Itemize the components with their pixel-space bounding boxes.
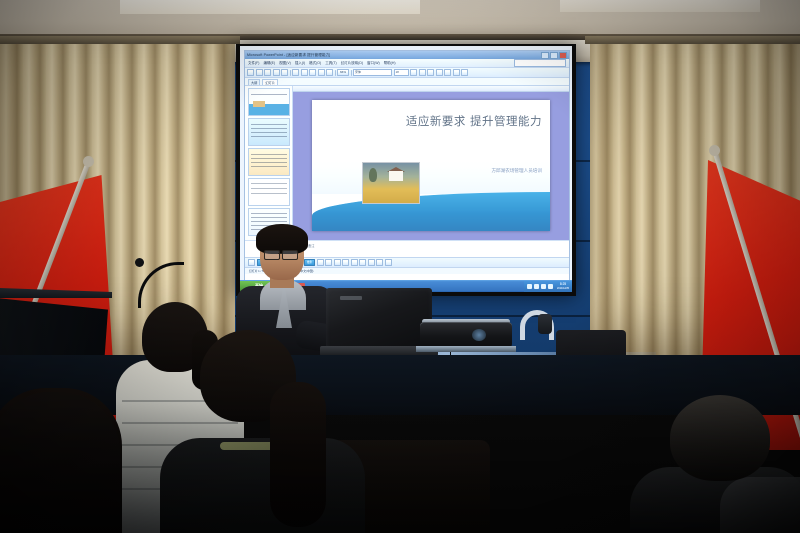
bold-icon[interactable] xyxy=(410,69,417,76)
ceiling-light-panel xyxy=(120,0,420,14)
presentation-room-photo: Microsoft PowerPoint - [适应新要求 提升管理能力] 文件… xyxy=(0,0,800,533)
tab-slides[interactable]: 幻灯片 xyxy=(262,79,278,85)
fill-color-icon[interactable] xyxy=(359,259,366,266)
menu-format[interactable]: 格式(O) xyxy=(309,61,321,66)
ime-icon[interactable] xyxy=(548,284,553,289)
flag-pole-knob-right xyxy=(709,145,720,156)
clock-time: 8:25 xyxy=(560,282,566,286)
slide-thumbnail[interactable] xyxy=(248,118,290,146)
window-title: Microsoft PowerPoint - [适应新要求 提升管理能力] xyxy=(247,53,330,58)
menu-bar-right xyxy=(514,59,566,67)
toolbar-separator xyxy=(290,70,291,76)
menu-edit[interactable]: 编辑(E) xyxy=(263,61,275,66)
shield-icon[interactable] xyxy=(541,284,546,289)
toolbar-separator xyxy=(335,70,336,76)
projector-body xyxy=(420,322,512,348)
volume-icon[interactable] xyxy=(534,284,539,289)
line-color-icon[interactable] xyxy=(368,259,375,266)
editor-body: 适应新要求 提升管理能力 方邱湖农场管理人员培训 xyxy=(245,86,569,240)
tree-shape xyxy=(369,168,377,182)
slide-subtitle-text[interactable]: 方邱湖农场管理人员培训 xyxy=(491,168,542,174)
curtain-rod-right xyxy=(585,36,800,44)
headphones-earcup xyxy=(538,314,552,334)
microphone-capsule xyxy=(135,258,144,267)
3d-icon[interactable] xyxy=(385,259,392,266)
menu-insert[interactable]: 插入(I) xyxy=(295,61,305,66)
audience-long-hair xyxy=(270,382,326,527)
font-color-icon[interactable] xyxy=(461,69,468,76)
open-icon[interactable] xyxy=(256,69,263,76)
toolbar-separator xyxy=(351,70,352,76)
undo-icon[interactable] xyxy=(318,69,325,76)
underline-icon[interactable] xyxy=(427,69,434,76)
window-controls[interactable] xyxy=(541,52,567,59)
font-size-select[interactable]: 18 xyxy=(394,69,409,77)
menu-tools[interactable]: 工具(T) xyxy=(325,61,336,66)
eyeglasses-right-lens xyxy=(282,250,298,260)
curtain-rod-left xyxy=(0,36,240,44)
standard-toolbar[interactable]: 66% 宋体 18 xyxy=(245,68,569,78)
flag-pole-knob-left xyxy=(83,156,94,167)
paste-icon[interactable] xyxy=(309,69,316,76)
align-left-icon[interactable] xyxy=(436,69,443,76)
menu-view[interactable]: 视图(V) xyxy=(279,61,291,66)
bullets-icon[interactable] xyxy=(453,69,460,76)
system-tray[interactable]: 8:25 2014/12/25 xyxy=(524,281,572,292)
zoom-value[interactable]: 66% xyxy=(337,69,349,76)
save-icon[interactable] xyxy=(264,69,271,76)
taskbar-clock[interactable]: 8:25 2014/12/25 xyxy=(555,282,569,291)
print-preview-icon[interactable] xyxy=(281,69,288,76)
menu-window[interactable]: 窗口(W) xyxy=(367,61,380,66)
slide-editing-area[interactable]: 适应新要求 提升管理能力 方邱湖农场管理人员培训 xyxy=(293,86,569,240)
slide-thumbnail-panel[interactable] xyxy=(245,86,293,240)
list-item xyxy=(630,395,800,533)
projector xyxy=(420,322,512,356)
maximize-icon[interactable] xyxy=(550,52,558,59)
eyeglasses-left-lens xyxy=(264,250,280,260)
audience-body xyxy=(160,438,365,533)
headphones xyxy=(520,310,554,358)
clock-date: 2014/12/25 xyxy=(557,287,569,290)
textbox-icon[interactable] xyxy=(342,259,349,266)
slide-photo[interactable] xyxy=(362,162,420,204)
laptop-logo xyxy=(340,296,362,300)
audience-shoulder xyxy=(720,477,800,533)
menu-help[interactable]: 帮助(H) xyxy=(384,61,396,66)
cut-icon[interactable] xyxy=(292,69,299,76)
tab-outline[interactable]: 大纲 xyxy=(248,79,260,85)
title-bar: Microsoft PowerPoint - [适应新要求 提升管理能力] xyxy=(245,51,569,59)
projector-lens xyxy=(472,329,486,341)
ask-a-question-input[interactable] xyxy=(514,59,566,67)
slide-title-text[interactable]: 适应新要求 提升管理能力 xyxy=(322,114,542,129)
redo-icon[interactable] xyxy=(326,69,333,76)
ceiling-light-panel-2 xyxy=(560,0,760,12)
slide-background-wave xyxy=(312,192,550,231)
network-icon[interactable] xyxy=(527,284,532,289)
copy-icon[interactable] xyxy=(301,69,308,76)
font-name-select[interactable]: 宋体 xyxy=(353,69,392,77)
print-icon[interactable] xyxy=(273,69,280,76)
horizontal-ruler xyxy=(293,86,569,92)
eyeglasses-bridge xyxy=(278,253,283,254)
audience-head-foreground-right xyxy=(670,395,770,481)
align-center-icon[interactable] xyxy=(444,69,451,76)
house-shape xyxy=(389,171,403,181)
minimize-icon[interactable] xyxy=(541,52,549,59)
close-icon[interactable] xyxy=(559,52,567,59)
current-slide[interactable]: 适应新要求 提升管理能力 方邱湖农场管理人员培训 xyxy=(312,100,550,231)
menu-file[interactable]: 文件(F) xyxy=(248,61,259,66)
italic-icon[interactable] xyxy=(419,69,426,76)
list-item xyxy=(150,330,365,533)
list-item xyxy=(0,392,120,533)
wordart-icon[interactable] xyxy=(351,259,358,266)
slide-thumbnail[interactable] xyxy=(248,148,290,176)
menu-slideshow[interactable]: 幻灯片放映(D) xyxy=(341,61,363,66)
outline-slides-tabs[interactable]: 大纲 幻灯片 xyxy=(245,78,569,86)
shadow-icon[interactable] xyxy=(376,259,383,266)
oval-icon[interactable] xyxy=(334,259,341,266)
slide-thumbnail[interactable] xyxy=(248,178,290,206)
slide-thumbnail[interactable] xyxy=(248,88,290,116)
new-icon[interactable] xyxy=(247,69,254,76)
menu-bar[interactable]: 文件(F) 编辑(E) 视图(V) 插入(I) 格式(O) 工具(T) 幻灯片放… xyxy=(245,59,569,68)
